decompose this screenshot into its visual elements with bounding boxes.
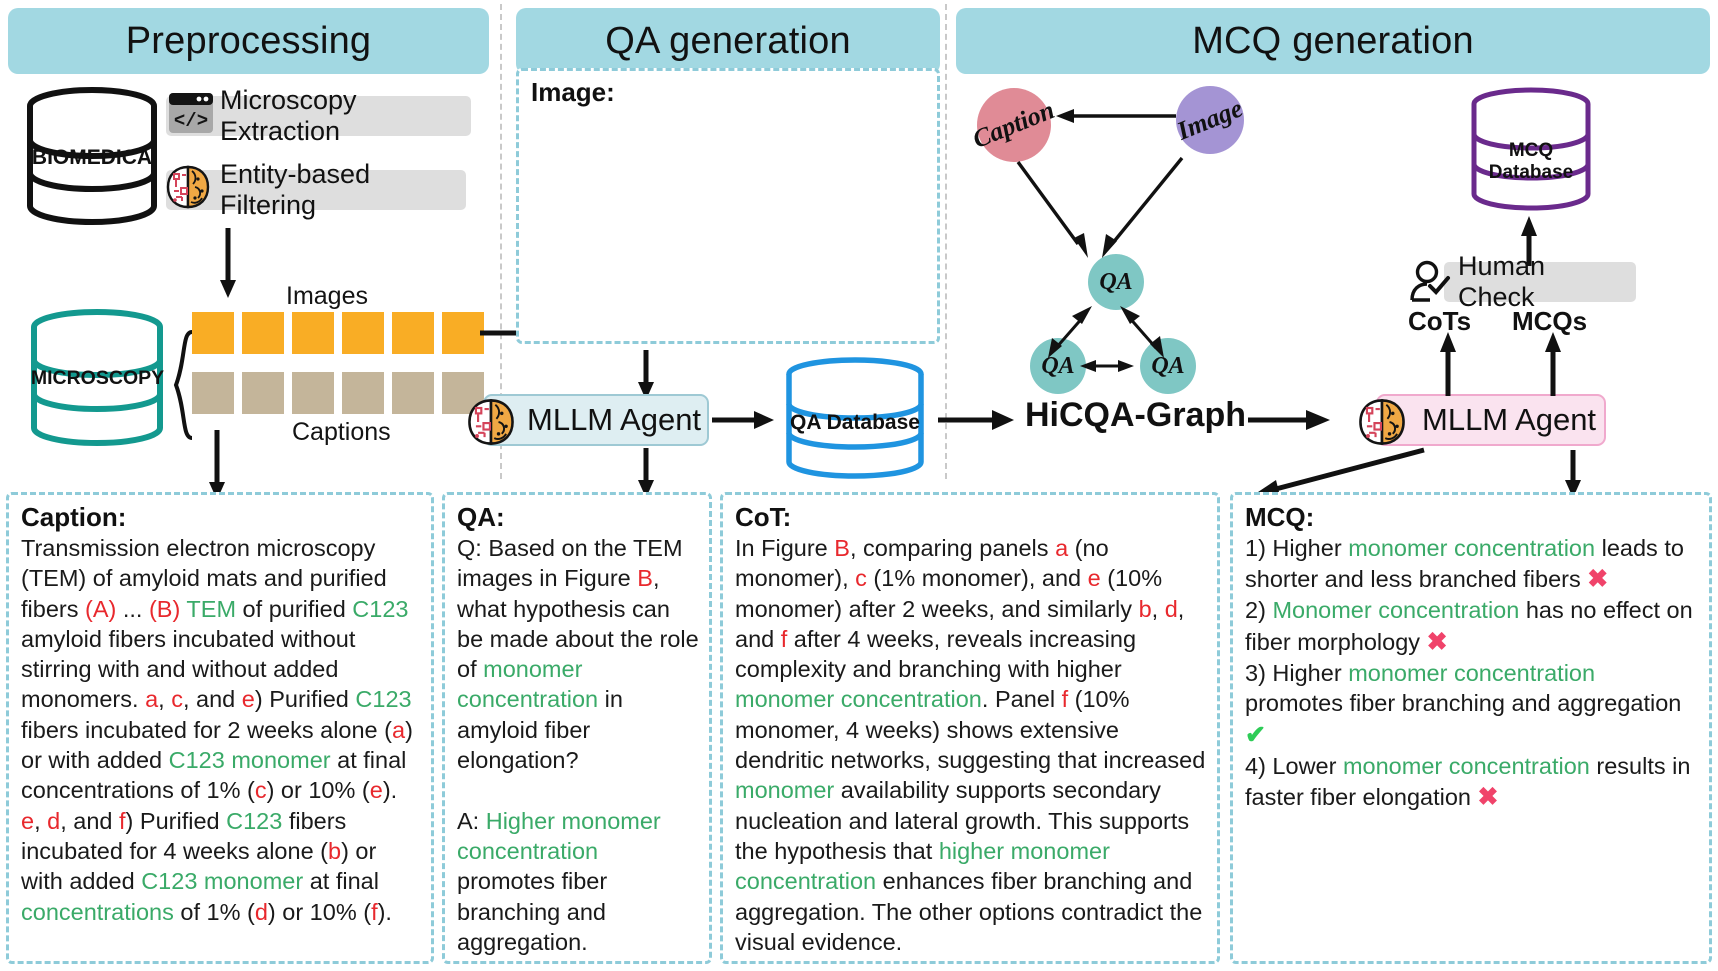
mllm-agent-label: MLLM Agent bbox=[1422, 402, 1596, 438]
images-row-label: Images bbox=[286, 282, 368, 311]
captions-row-label: Captions bbox=[292, 418, 391, 447]
text-run: 3) Higher bbox=[1245, 660, 1348, 686]
caption-square bbox=[242, 372, 284, 414]
image-input-panel: Image: bbox=[516, 68, 940, 344]
text-run: b bbox=[1139, 596, 1152, 622]
text-run: of 1% ( bbox=[174, 899, 255, 925]
brain-icon bbox=[463, 394, 519, 450]
biomedica-database: BIOMEDICA bbox=[22, 88, 162, 224]
text-run: C123 monomer bbox=[141, 868, 303, 894]
text-run: of purified bbox=[236, 596, 352, 622]
mllm-agent-label: MLLM Agent bbox=[527, 402, 701, 438]
human-check-label: Human Check bbox=[1458, 251, 1626, 313]
text-run: promotes fiber branching and aggregation bbox=[1245, 690, 1681, 716]
microscopy-database: MICROSCOPY bbox=[25, 310, 170, 445]
image-panel-title: Image: bbox=[519, 71, 937, 108]
text-run: c bbox=[171, 686, 183, 712]
text-run: (A) bbox=[85, 596, 116, 622]
text-run: (1% monomer), and bbox=[867, 565, 1088, 591]
mcq-option[interactable]: 4) Lower monomer concentration results i… bbox=[1245, 751, 1699, 814]
caption-square bbox=[342, 372, 384, 414]
text-run: 4) Lower bbox=[1245, 753, 1343, 779]
text-run: Monomer concentration bbox=[1272, 597, 1519, 623]
wrong-icon: ✖ bbox=[1427, 628, 1448, 656]
text-run: C123 bbox=[226, 808, 282, 834]
mcq-option[interactable]: 2) Monomer concentration has no effect o… bbox=[1245, 595, 1699, 658]
caption-square bbox=[392, 372, 434, 414]
text-run: , comparing panels bbox=[850, 535, 1055, 561]
text-run: a bbox=[1055, 535, 1068, 561]
text-run: ) Purified bbox=[126, 808, 227, 834]
text-run: d bbox=[1165, 596, 1178, 622]
images-squares-row bbox=[192, 312, 482, 356]
section-header-mcq-generation: MCQ generation bbox=[956, 8, 1710, 74]
cot-panel: CoT: In Figure B, comparing panels a (no… bbox=[720, 492, 1220, 964]
text-run: C123 monomer bbox=[169, 747, 331, 773]
text-run: C123 bbox=[352, 596, 408, 622]
text-run: monomer bbox=[735, 777, 834, 803]
text-run: 1) Higher bbox=[1245, 535, 1348, 561]
text-run: monomer concentration bbox=[1348, 535, 1595, 561]
text-run: In Figure bbox=[735, 535, 834, 561]
arrow-up-to-mcq-database bbox=[1518, 214, 1540, 266]
text-run: concentrations bbox=[21, 899, 174, 925]
images-label: Images bbox=[286, 282, 368, 310]
image-square bbox=[442, 312, 484, 354]
text-run: monomer concentration bbox=[735, 686, 982, 712]
human-check-step[interactable]: Human Check bbox=[1444, 262, 1636, 302]
arrow-up-mcqs bbox=[1542, 330, 1564, 396]
text-run: ) Purified bbox=[255, 686, 356, 712]
step-label: Entity-based Filtering bbox=[220, 159, 456, 221]
image-square bbox=[192, 312, 234, 354]
brain-icon bbox=[162, 161, 214, 213]
mllm-agent-mcq-generation[interactable]: MLLM Agent bbox=[1376, 394, 1606, 446]
text-run: at final bbox=[303, 868, 379, 894]
section-header-label: Preprocessing bbox=[126, 20, 372, 63]
text-run: promotes fiber branching and aggregation… bbox=[457, 868, 607, 955]
captions-squares-row bbox=[192, 372, 482, 416]
wrong-icon: ✖ bbox=[1478, 783, 1499, 811]
section-header-qa-generation: QA generation bbox=[516, 8, 940, 74]
text-run: e bbox=[21, 808, 34, 834]
text-run: e bbox=[1088, 565, 1101, 591]
text-run: c bbox=[855, 565, 867, 591]
image-square bbox=[342, 312, 384, 354]
mcq-panel: MCQ: 1) Higher monomer concentration lea… bbox=[1230, 492, 1712, 964]
section-header-label: QA generation bbox=[605, 20, 851, 63]
text-run: , bbox=[158, 686, 171, 712]
step-entity-based-filtering[interactable]: Entity-based Filtering bbox=[166, 170, 466, 210]
text-run: ) or 10% ( bbox=[268, 899, 371, 925]
mcq-option[interactable]: 1) Higher monomer concentration leads to… bbox=[1245, 533, 1699, 596]
text-run: b bbox=[328, 838, 341, 864]
mllm-agent-qa-generation[interactable]: MLLM Agent bbox=[483, 394, 709, 446]
text-run: after 4 weeks, reveals increasing comple… bbox=[735, 626, 1136, 682]
step-label: Microscopy Extraction bbox=[220, 85, 461, 147]
svg-text:</>: </> bbox=[174, 110, 208, 132]
text-run: , and bbox=[183, 686, 242, 712]
arrow-right-to-hicqa-graph bbox=[938, 407, 1018, 433]
hicqa-graph-title: HiCQA-Graph bbox=[1025, 396, 1246, 435]
text-run: e bbox=[370, 777, 383, 803]
mcq-option[interactable]: 3) Higher monomer concentration promotes… bbox=[1245, 658, 1699, 751]
text-run: ... bbox=[116, 596, 149, 622]
text-run: C123 bbox=[355, 686, 411, 712]
qa-panel: QA: Q: Based on the TEM images in Figure… bbox=[442, 492, 712, 964]
wrong-icon: ✖ bbox=[1587, 565, 1608, 593]
text-run: a bbox=[392, 717, 405, 743]
arrow-right-to-qa-database bbox=[712, 407, 778, 433]
text-run: , bbox=[1152, 596, 1165, 622]
brain-icon bbox=[1354, 394, 1410, 450]
text-run: ). bbox=[378, 899, 392, 925]
cot-panel-title: CoT: bbox=[735, 503, 1207, 533]
qa-panel-title: QA: bbox=[457, 503, 699, 533]
image-square bbox=[392, 312, 434, 354]
image-square bbox=[292, 312, 334, 354]
text-run: B bbox=[637, 565, 653, 591]
text-run: TEM bbox=[186, 596, 236, 622]
mcq-database: MCQ Database bbox=[1466, 88, 1596, 212]
text-run: A: bbox=[457, 808, 486, 834]
text-run: d bbox=[255, 899, 268, 925]
qa-database: QA Database bbox=[780, 358, 930, 478]
qa-panel-text: Q: Based on the TEM images in Figure B, … bbox=[457, 533, 699, 957]
captions-label: Captions bbox=[292, 418, 391, 446]
text-run: ). bbox=[383, 777, 397, 803]
mcq-panel-title: MCQ: bbox=[1245, 503, 1699, 533]
caption-panel-text: Transmission electron microscopy (TEM) o… bbox=[21, 533, 421, 927]
text-run: Higher monomer concentration bbox=[457, 808, 661, 864]
code-icon: </> bbox=[166, 88, 216, 138]
text-run: e bbox=[242, 686, 255, 712]
qa-database-label: QA Database bbox=[780, 411, 930, 435]
microscopy-database-label: MICROSCOPY bbox=[25, 367, 170, 390]
text-run: B bbox=[834, 535, 850, 561]
text-run: , and bbox=[60, 808, 119, 834]
text-run: (B) bbox=[149, 596, 180, 622]
text-run: a bbox=[145, 686, 158, 712]
cot-panel-text: In Figure B, comparing panels a (no mono… bbox=[735, 533, 1207, 957]
text-run: . Panel bbox=[982, 686, 1062, 712]
arrow-down-preprocess bbox=[216, 228, 240, 300]
section-header-label: MCQ generation bbox=[1192, 20, 1474, 63]
step-microscopy-extraction[interactable]: </> Microscopy Extraction bbox=[166, 96, 471, 136]
caption-square bbox=[192, 372, 234, 414]
caption-panel: Caption: Transmission electron microscop… bbox=[6, 492, 434, 964]
mcq-database-label: MCQ Database bbox=[1466, 140, 1596, 184]
text-run: 2) bbox=[1245, 597, 1272, 623]
caption-panel-title: Caption: bbox=[21, 503, 421, 533]
text-run: fibers incubated for 2 weeks alone ( bbox=[21, 717, 392, 743]
image-square bbox=[242, 312, 284, 354]
text-run: d bbox=[47, 808, 60, 834]
arrow-right-to-mcq-agent bbox=[1248, 407, 1334, 433]
graph-edges bbox=[960, 80, 1260, 410]
arrow-up-cots bbox=[1437, 330, 1459, 396]
person-check-icon bbox=[1404, 258, 1452, 306]
text-run: monomer concentration bbox=[1343, 753, 1590, 779]
biomedica-database-label: BIOMEDICA bbox=[22, 146, 162, 170]
mcq-panel-text: 1) Higher monomer concentration leads to… bbox=[1245, 533, 1699, 814]
text-run: monomer concentration bbox=[1348, 660, 1595, 686]
section-header-preprocessing: Preprocessing bbox=[8, 8, 489, 74]
text-run: c bbox=[255, 777, 267, 803]
text-run: , bbox=[34, 808, 47, 834]
text-run: ) or 10% ( bbox=[267, 777, 370, 803]
correct-icon: ✔ bbox=[1245, 721, 1266, 749]
caption-square bbox=[292, 372, 334, 414]
